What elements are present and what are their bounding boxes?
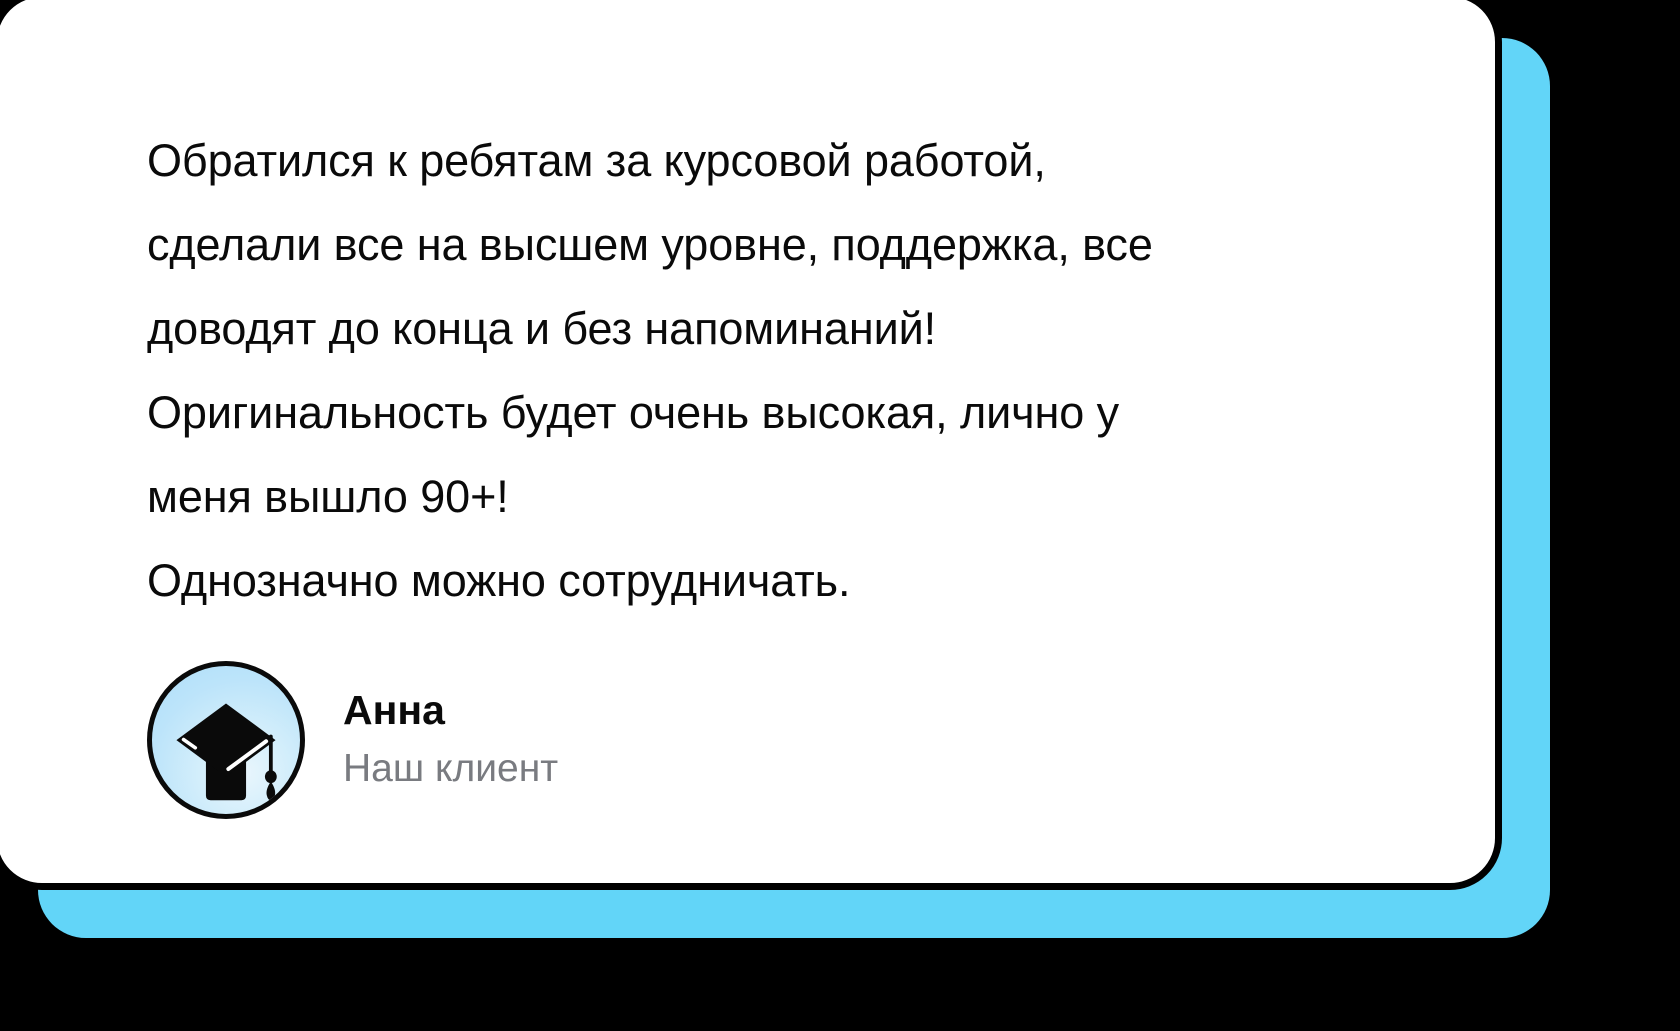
avatar (147, 661, 305, 819)
author-name: Анна (343, 686, 558, 734)
testimonial-stage: Обратился к ребятам за курсовой работой,… (0, 0, 1680, 1031)
review-text: Обратился к ребятам за курсовой работой,… (147, 119, 1447, 623)
testimonial-card: Обратился к ребятам за курсовой работой,… (0, 0, 1502, 890)
author-meta: Анна Наш клиент (343, 686, 558, 793)
card-content: Обратился к ребятам за курсовой работой,… (147, 119, 1447, 819)
author-role: Наш клиент (343, 745, 558, 794)
graduation-cap-icon (167, 675, 285, 805)
author-block: Анна Наш клиент (147, 661, 1447, 819)
